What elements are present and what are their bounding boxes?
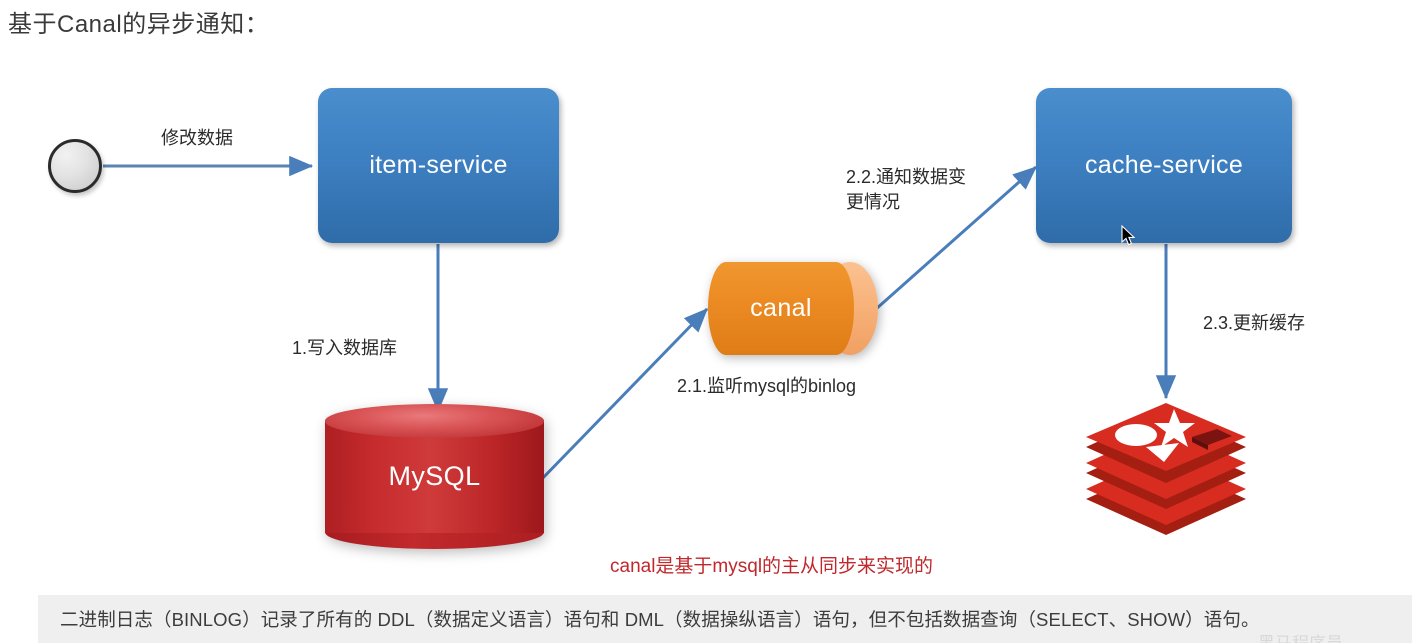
edge-label-refresh-cache: 2.3.更新缓存 <box>1203 311 1305 336</box>
mouse-cursor-icon <box>1121 225 1137 247</box>
redis-ellipse-glyph <box>1115 424 1157 446</box>
redis-icon[interactable] <box>1080 403 1252 535</box>
bottom-banner-text: 二进制日志（BINLOG）记录了所有的 DDL（数据定义语言）语句和 DML（数… <box>60 606 1260 632</box>
node-item-service-label: item-service <box>369 151 507 180</box>
node-canal-label: canal <box>708 262 854 355</box>
edge-label-write-db: 1.写入数据库 <box>292 336 397 361</box>
node-mysql[interactable]: MySQL <box>325 404 544 549</box>
bottom-banner: 二进制日志（BINLOG）记录了所有的 DDL（数据定义语言）语句和 DML（数… <box>38 595 1412 643</box>
node-item-service[interactable]: item-service <box>318 88 559 243</box>
red-note: canal是基于mysql的主从同步来实现的 <box>610 551 933 578</box>
page-title: 基于Canal的异步通知： <box>8 8 269 42</box>
node-cache-service[interactable]: cache-service <box>1036 88 1292 243</box>
edge-label-notify-change: 2.2.通知数据变 更情况 <box>846 165 1016 215</box>
node-cache-service-label: cache-service <box>1085 151 1243 180</box>
node-canal[interactable]: canal <box>708 262 878 355</box>
diagram-canvas: 基于Canal的异步通知： item-service cache-service… <box>0 0 1412 643</box>
start-node[interactable] <box>48 139 102 193</box>
watermark-text: 黑马程序员 <box>1258 629 1343 643</box>
edge-label-listen-binlog: 2.1.监听mysql的binlog <box>677 374 856 399</box>
edge-label-modify-data: 修改数据 <box>161 126 233 151</box>
node-mysql-label: MySQL <box>325 420 544 533</box>
